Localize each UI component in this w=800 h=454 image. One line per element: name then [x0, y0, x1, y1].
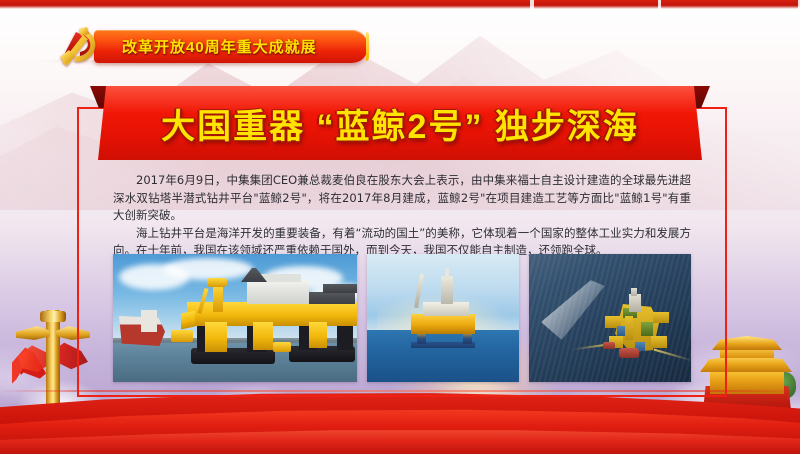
photo-drilling-platform-sea [367, 254, 519, 382]
aerial-rig-structure [601, 286, 671, 358]
article-paragraph-1: 2017年6月9日，中集集团CEO兼总裁麦伯良在股东大会上表示，由中集来福士自主… [113, 172, 691, 225]
photo-drilling-platform-aerial [529, 254, 691, 382]
title-banner: 大国重器 “蓝鲸2号” 独步深海 [90, 86, 710, 160]
article-body: 2017年6月9日，中集集团CEO兼总裁麦伯良在股东大会上表示，由中集来福士自主… [113, 172, 691, 260]
top-strip-gaps [0, 0, 800, 9]
banner-body: 大国重器 “蓝鲸2号” 独步深海 [98, 86, 702, 160]
header-exhibition-tab[interactable]: 改革开放40周年重大成就展 [56, 28, 368, 64]
page-title: 大国重器 “蓝鲸2号” 独步深海 [98, 86, 702, 160]
photo-row [113, 254, 691, 382]
header-tab-plate[interactable]: 改革开放40周年重大成就展 [94, 30, 368, 63]
party-emblem-icon [56, 23, 100, 69]
poster-canvas: 改革开放40周年重大成就展 大国重器 “蓝鲸2号” 独步深海 2017年6月9日… [0, 0, 800, 454]
header-tab-label: 改革开放40周年重大成就展 [122, 36, 317, 57]
photo-drilling-platform-dock [113, 254, 357, 382]
